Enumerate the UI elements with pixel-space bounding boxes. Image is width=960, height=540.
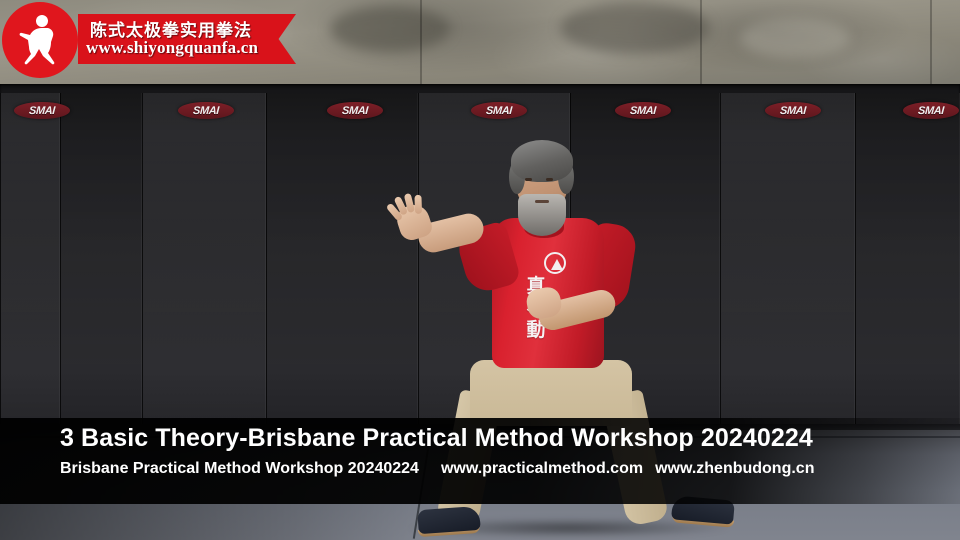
- pants: [470, 360, 632, 426]
- video-frame: SMAI SMAI SMAI SMAI SMAI SMAI SMAI 真不動: [0, 0, 960, 540]
- eye-right: [546, 178, 553, 181]
- finger: [414, 195, 422, 214]
- caption-url-secondary[interactable]: www.zhenbudong.cn: [655, 460, 814, 478]
- caption-url-primary[interactable]: www.practicalmethod.com: [441, 460, 643, 478]
- hair: [511, 140, 573, 182]
- caption-subtitle: Brisbane Practical Method Workshop 20240…: [60, 460, 419, 478]
- caption-overlay: 3 Basic Theory-Brisbane Practical Method…: [0, 418, 960, 504]
- martial-artist-silhouette-icon: [2, 2, 78, 78]
- watermark-url[interactable]: www.shiyongquanfa.cn: [86, 38, 286, 60]
- mouth: [535, 200, 549, 203]
- caption-subtitle-row: Brisbane Practical Method Workshop 20240…: [60, 460, 814, 478]
- watermark-chinese-title: 陈式太极拳实用拳法: [90, 16, 280, 38]
- caption-title: 3 Basic Theory-Brisbane Practical Method…: [60, 424, 813, 453]
- eye-left: [525, 178, 532, 181]
- shirt-emblem-icon: [544, 252, 566, 274]
- shoe-left: [417, 506, 481, 534]
